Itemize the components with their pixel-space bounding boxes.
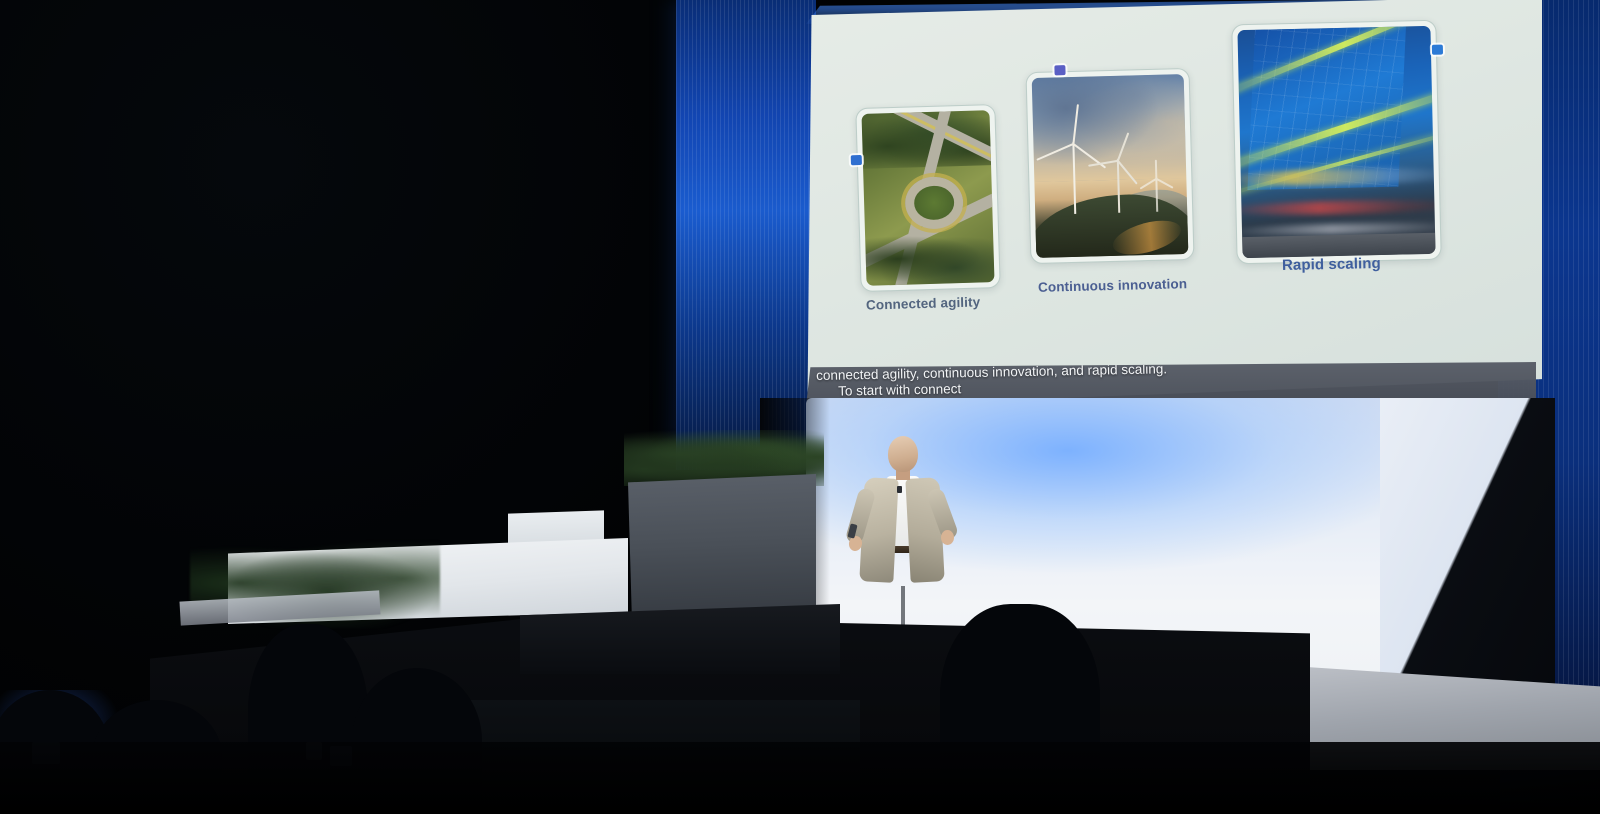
slide-caption-connected-agility: Connected agility <box>866 294 981 312</box>
card-handle-icon <box>1432 45 1443 55</box>
card-handle-icon <box>1054 65 1065 75</box>
slide-caption-rapid-scaling: Rapid scaling <box>1282 255 1381 274</box>
slide-card-connected-agility <box>855 104 1000 292</box>
lapel-microphone-icon <box>897 486 902 493</box>
wind-turbines-sunset-photo <box>1032 74 1189 258</box>
presenter-head <box>888 436 918 472</box>
sunset-clouds <box>1032 74 1187 182</box>
traffic-blur-red <box>1237 198 1435 216</box>
slide-card-rapid-scaling <box>1231 20 1441 265</box>
aerial-roundabout-photo <box>861 110 994 286</box>
turbine-mast <box>1155 178 1158 212</box>
street-surface <box>1242 233 1435 258</box>
foreground-monitor <box>520 604 840 674</box>
wind-turbine-2 <box>1117 159 1118 213</box>
roundabout-trees-bottom <box>865 230 994 285</box>
card-handle-icon <box>851 155 862 165</box>
stage-scene: Connected agility <box>0 0 1600 814</box>
audience-front-row <box>0 742 1600 814</box>
turbine-blade <box>1155 178 1173 189</box>
projection-screen: Connected agility <box>800 0 1542 408</box>
slide-card-continuous-innovation <box>1026 68 1195 264</box>
grey-planter <box>628 474 816 614</box>
city-skyscraper-traffic-blur-photo <box>1237 26 1435 258</box>
wind-turbine-3 <box>1156 178 1157 212</box>
presenter-hand-right <box>941 530 954 545</box>
